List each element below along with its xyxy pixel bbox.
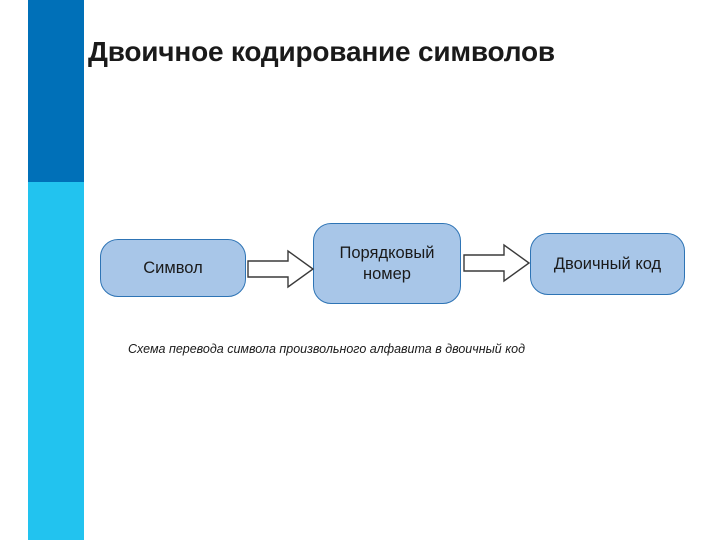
slide: Двоичное кодирование символов Символ Пор… [0,0,720,540]
diagram-node-order-number: Порядковый номер [313,223,461,304]
arrow-right-icon-1 [247,249,315,289]
diagram-node-binary-code-label: Двоичный код [554,254,661,274]
diagram-node-symbol: Символ [100,239,246,297]
diagram-node-symbol-label: Символ [143,258,203,278]
diagram-caption: Схема перевода символа произвольного алф… [128,342,688,356]
diagram-node-order-number-label: Порядковый номер [337,243,437,283]
flow-diagram: Символ Порядковый номер Двоичный код [0,0,720,540]
arrow-right-icon-2 [463,243,531,283]
diagram-node-binary-code: Двоичный код [530,233,685,295]
